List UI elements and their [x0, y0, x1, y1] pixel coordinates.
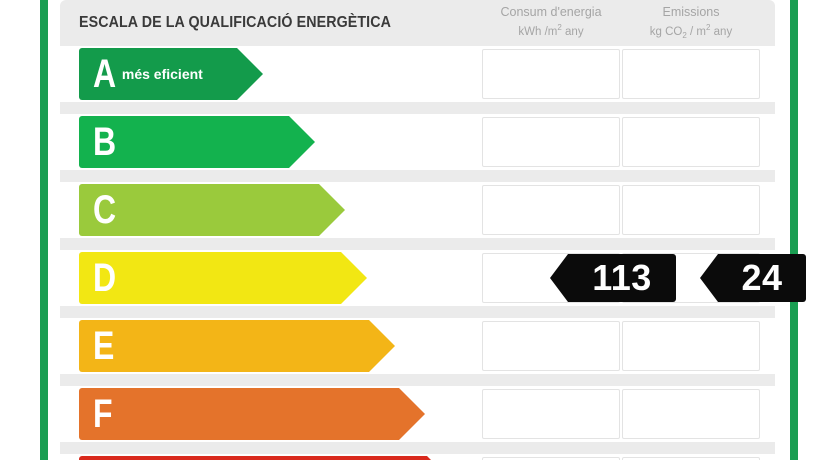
value-cell-energy-f: [482, 389, 620, 439]
band-c: C: [79, 184, 319, 236]
band-letter-a: A: [93, 54, 116, 94]
column-header-emissions-title: Emissions: [663, 5, 720, 19]
scale-row-d: D11324: [60, 250, 775, 306]
scale-row-b: B: [60, 114, 775, 170]
page-title: ESCALA DE LA QUALIFICACIÓ ENERGÈTICA: [79, 14, 391, 32]
band-arrow-tip-d: [341, 252, 367, 304]
value-pointer-arrow-emissions: [700, 254, 718, 302]
scale-row-g: G: [60, 454, 775, 460]
value-cell-energy-e: [482, 321, 620, 371]
band-f: F: [79, 388, 399, 440]
band-d: D: [79, 252, 341, 304]
column-header-emissions-units: kg CO2 / m2 any: [622, 20, 760, 44]
value-cell-emissions-c: [622, 185, 760, 235]
band-d-content: D: [79, 252, 341, 304]
band-c-content: C: [79, 184, 319, 236]
value-cell-emissions-a: [622, 49, 760, 99]
band-b-content: B: [79, 116, 289, 168]
column-header-energy: Consum d'energia kWh /m2 any: [482, 4, 620, 40]
scale-row-a: Amés eficient: [60, 46, 775, 102]
value-pointer-energy: 113: [550, 254, 676, 302]
value-cell-energy-c: [482, 185, 620, 235]
column-header-emissions: Emissions kg CO2 / m2 any: [622, 4, 760, 44]
scale-header: ESCALA DE LA QUALIFICACIÓ ENERGÈTICA Con…: [60, 0, 775, 46]
value-pointer-body-energy: 113: [568, 254, 676, 302]
band-arrow-tip-b: [289, 116, 315, 168]
scale-row-f: F: [60, 386, 775, 442]
band-arrow-tip-a: [237, 48, 263, 100]
band-a: Amés eficient: [79, 48, 237, 100]
band-note-a: més eficient: [122, 66, 203, 82]
band-letter-f: F: [93, 394, 113, 434]
value-cell-energy-b: [482, 117, 620, 167]
band-g-content: G: [79, 456, 427, 460]
scale-row-e: E: [60, 318, 775, 374]
band-letter-d: D: [93, 258, 116, 298]
band-e: E: [79, 320, 369, 372]
band-letter-c: C: [93, 190, 116, 230]
band-arrow-tip-g: [427, 456, 453, 460]
band-arrow-tip-e: [369, 320, 395, 372]
band-arrow-tip-c: [319, 184, 345, 236]
value-cell-emissions-b: [622, 117, 760, 167]
value-energy: 113: [592, 260, 652, 296]
value-cell-energy-a: [482, 49, 620, 99]
scale-row-c: C: [60, 182, 775, 238]
band-e-content: E: [79, 320, 369, 372]
column-header-energy-units: kWh /m2 any: [482, 20, 620, 40]
column-header-energy-title: Consum d'energia: [500, 5, 601, 19]
value-cell-emissions-f: [622, 389, 760, 439]
value-emissions: 24: [741, 260, 782, 296]
band-letter-e: E: [93, 326, 114, 366]
value-pointer-arrow-energy: [550, 254, 568, 302]
value-pointer-body-emissions: 24: [718, 254, 806, 302]
energy-scale-card: ESCALA DE LA QUALIFICACIÓ ENERGÈTICA Con…: [60, 0, 775, 460]
band-g: G: [79, 456, 427, 460]
band-arrow-tip-f: [399, 388, 425, 440]
right-green-rail: [790, 0, 798, 460]
band-letter-b: B: [93, 122, 116, 162]
value-pointer-emissions: 24: [700, 254, 806, 302]
band-b: B: [79, 116, 289, 168]
energy-label-page: ESCALA DE LA QUALIFICACIÓ ENERGÈTICA Con…: [0, 0, 840, 460]
band-f-content: F: [79, 388, 399, 440]
band-a-content: Amés eficient: [79, 48, 237, 100]
left-green-rail: [40, 0, 48, 460]
value-cell-emissions-e: [622, 321, 760, 371]
